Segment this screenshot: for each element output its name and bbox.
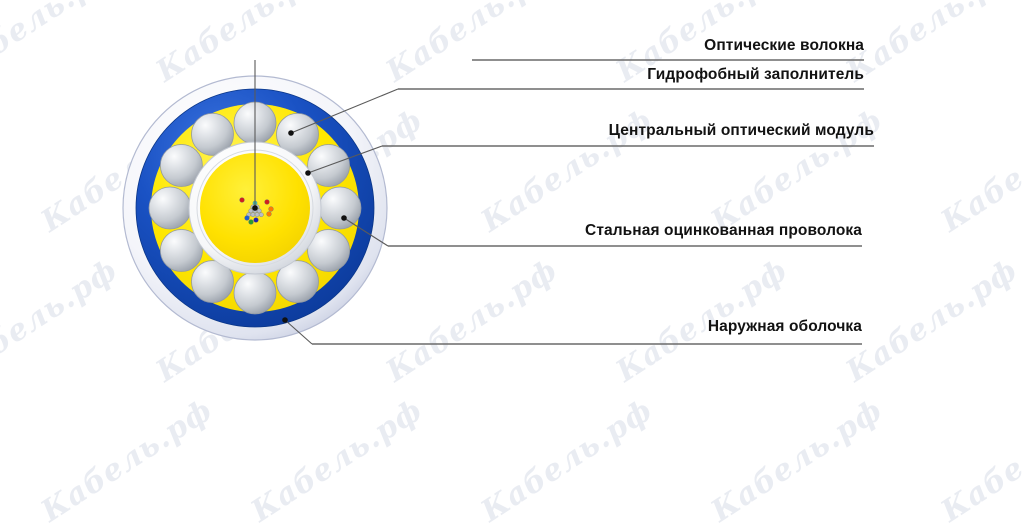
watermark-text: Кабель.рф: [475, 393, 659, 529]
watermark-text: Кабель.рф: [935, 393, 1024, 529]
label-hydrophobic-filler: Гидрофобный заполнитель: [0, 66, 864, 84]
leader-dot-galvanized-steel-wire: [341, 215, 347, 221]
optical-fiber-colored: [245, 216, 250, 221]
optical-fiber-colored: [269, 207, 274, 212]
label-optical-fibers: Оптические волокна: [0, 37, 864, 55]
leader-dot-central-optical-module: [305, 170, 311, 176]
label-central-optical-module: Центральный оптический модуль: [0, 122, 874, 140]
watermark-text: Кабель.рф: [705, 393, 889, 529]
diagram-stage: Кабель.рфКабель.рфКабель.рфКабель.рфКабе…: [0, 0, 1024, 400]
leader-dot-optical-fibers: [252, 205, 258, 211]
label-galvanized-steel-wire: Стальная оцинкованная проволока: [0, 222, 862, 240]
optical-fiber: [257, 209, 261, 213]
label-outer-sheath: Наружная оболочка: [0, 318, 862, 336]
optical-fiber-colored: [265, 200, 270, 205]
watermark-text: Кабель.рф: [35, 393, 219, 529]
watermark-text: Кабель.рф: [245, 393, 429, 529]
optical-fiber: [259, 213, 263, 217]
optical-fiber: [251, 213, 255, 217]
steel-wire-sphere: [234, 272, 276, 314]
cable-cross-section: [0, 0, 1024, 400]
optical-fiber-colored: [240, 198, 245, 203]
optical-fiber: [249, 209, 253, 213]
optical-fiber-colored: [267, 212, 272, 217]
optical-fiber: [255, 213, 259, 217]
